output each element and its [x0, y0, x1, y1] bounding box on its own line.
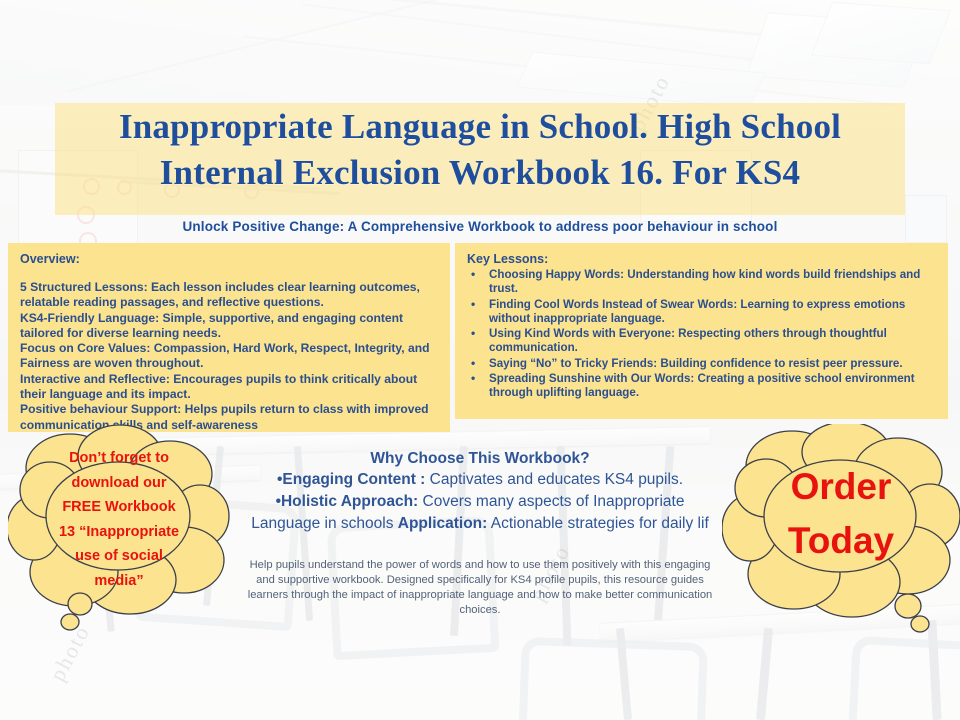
overview-line: Interactive and Reflective: Encourages p… — [20, 372, 438, 403]
list-item: •Choosing Happy Words: Understanding how… — [467, 268, 938, 297]
key-lessons-panel: Key Lessons: •Choosing Happy Words: Unde… — [455, 243, 948, 419]
page-subtitle: Unlock Positive Change: A Comprehensive … — [60, 219, 900, 234]
list-item-label: Choosing Happy Words: Understanding how … — [489, 268, 920, 295]
why-choose-point-3-text: Actionable strategies for daily lif — [487, 515, 708, 532]
page-title-line-2: Internal Exclusion Workbook 16. For KS4 — [55, 150, 905, 196]
bullet-icon: • — [471, 371, 475, 385]
overview-heading: Overview: — [20, 252, 438, 266]
list-item-label: Spreading Sunshine with Our Words: Creat… — [489, 372, 915, 399]
why-choose-point-2: •Holistic Approach: Covers many aspects … — [210, 491, 750, 513]
why-choose-block: Why Choose This Workbook? •Engaging Cont… — [210, 449, 750, 535]
why-choose-point-2-text: Covers many aspects of Inappropriate — [418, 493, 684, 510]
description-paragraph: Help pupils understand the power of word… — [245, 558, 715, 618]
list-item: •Spreading Sunshine with Our Words: Crea… — [467, 372, 938, 401]
why-choose-point-1-text: Captivates and educates KS4 pupils. — [425, 471, 683, 488]
bullet-icon: • — [471, 297, 475, 311]
list-item-label: Saying “No” to Tricky Friends: Building … — [489, 357, 903, 370]
list-item: •Finding Cool Words Instead of Swear Wor… — [467, 298, 938, 327]
why-choose-point-2-label: •Holistic Approach: — [276, 493, 419, 510]
bullet-icon: • — [471, 326, 475, 340]
overview-line: Focus on Core Values: Compassion, Hard W… — [20, 341, 438, 372]
free-workbook-callout[interactable]: Don’t forget to download our FREE Workbo… — [8, 424, 230, 634]
why-choose-heading: Why Choose This Workbook? — [210, 449, 750, 469]
thought-cloud-shape — [722, 424, 960, 634]
why-choose-point-1: •Engaging Content : Captivates and educa… — [210, 469, 750, 491]
overview-panel: Overview: 5 Structured Lessons: Each les… — [8, 243, 450, 432]
key-lessons-list: •Choosing Happy Words: Understanding how… — [467, 268, 938, 401]
poster-canvas: photo photo photo photo Inappropriate La… — [0, 0, 960, 720]
key-lessons-heading: Key Lessons: — [467, 252, 938, 266]
overview-line: KS4-Friendly Language: Simple, supportiv… — [20, 311, 438, 342]
overview-body: 5 Structured Lessons: Each lesson includ… — [20, 280, 438, 433]
order-today-callout[interactable]: Order Today — [722, 424, 960, 634]
list-item-label: Using Kind Words with Everyone: Respecti… — [489, 327, 887, 354]
list-item: •Using Kind Words with Everyone: Respect… — [467, 327, 938, 356]
list-item-label: Finding Cool Words Instead of Swear Word… — [489, 298, 905, 325]
bullet-icon: • — [471, 267, 475, 281]
why-choose-point-1-label: •Engaging Content : — [277, 471, 425, 488]
why-choose-point-3-prefix: Language in schools — [251, 515, 398, 532]
list-item: •Saying “No” to Tricky Friends: Building… — [467, 357, 938, 371]
bullet-icon: • — [471, 356, 475, 370]
overview-line: 5 Structured Lessons: Each lesson includ… — [20, 280, 438, 311]
page-title-line-1: Inappropriate Language in School. High S… — [55, 104, 905, 150]
why-choose-point-3-label: Application: — [398, 515, 488, 532]
thought-cloud-shape — [8, 424, 230, 634]
why-choose-point-3: Language in schools Application: Actiona… — [210, 513, 750, 535]
page-title: Inappropriate Language in School. High S… — [55, 104, 905, 196]
